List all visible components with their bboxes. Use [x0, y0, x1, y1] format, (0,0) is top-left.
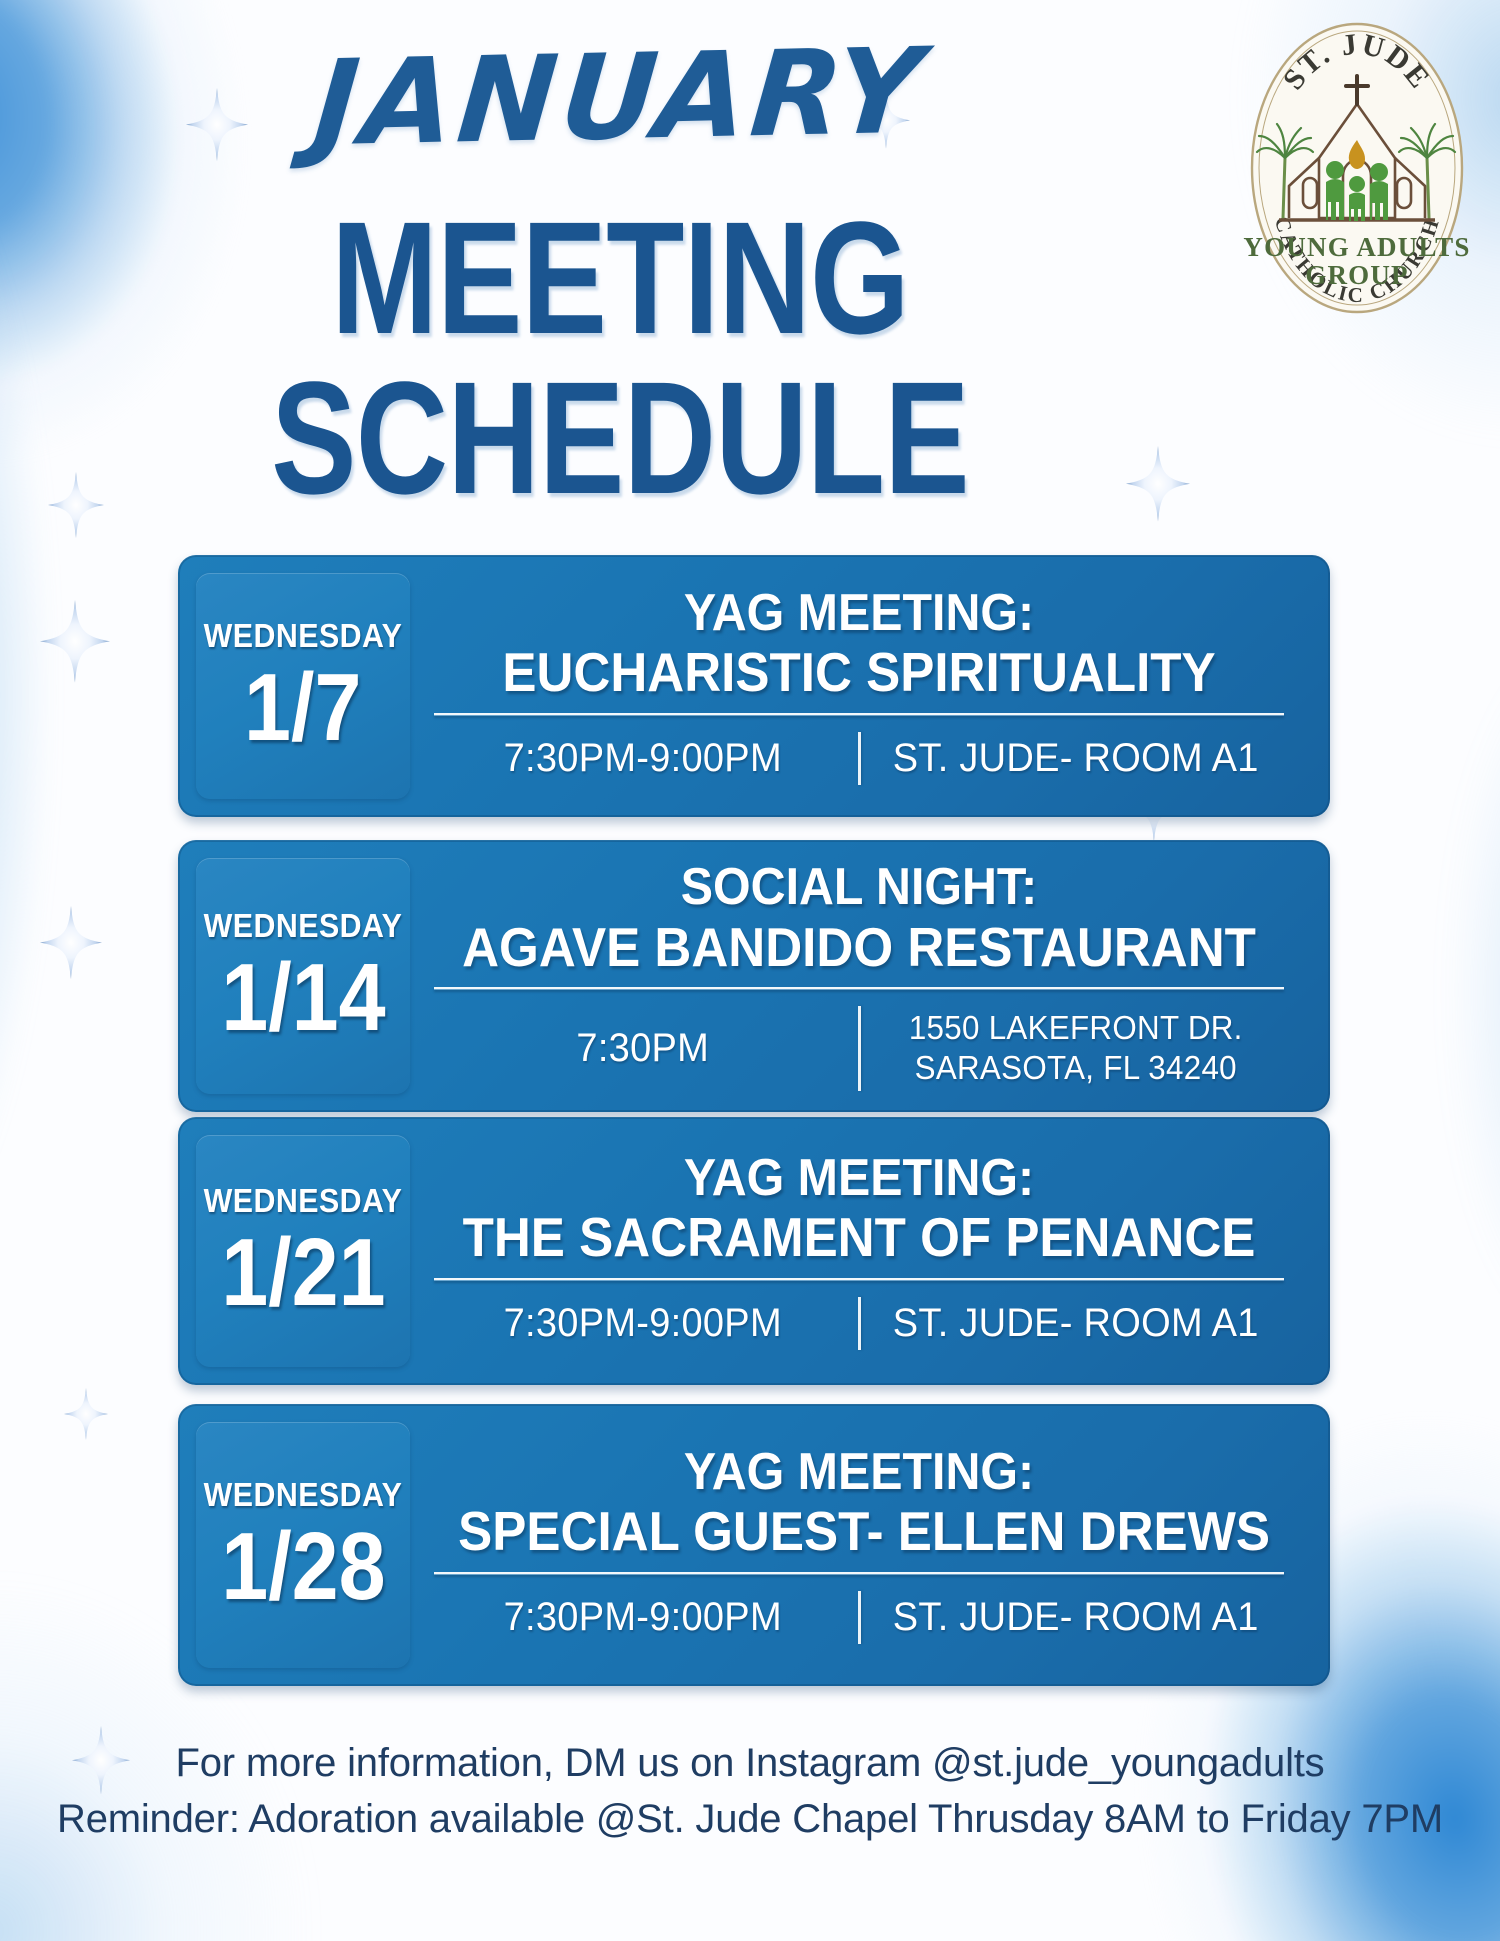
event-type: SOCIAL NIGHT: [458, 859, 1260, 916]
event-type: YAG MEETING: [458, 1150, 1260, 1207]
event-location: ST. JUDE- ROOM A1 [871, 730, 1279, 787]
event-location: ST. JUDE- ROOM A1 [871, 1295, 1279, 1352]
event-type: YAG MEETING: [458, 585, 1260, 642]
sparkle-icon [64, 1388, 108, 1440]
divider-rule [434, 987, 1284, 990]
vertical-divider [858, 1297, 861, 1350]
event-meta: 7:30PM-9:00PMST. JUDE- ROOM A1 [428, 730, 1290, 787]
event-date-box: WEDNESDAY1/14 [196, 858, 410, 1094]
event-card[interactable]: WEDNESDAY1/7YAG MEETING:EUCHARISTIC SPIR… [178, 555, 1330, 817]
event-title: SPECIAL GUEST- ELLEN DREWS [458, 1501, 1260, 1562]
sparkle-icon [48, 472, 104, 538]
event-date-box: WEDNESDAY1/7 [196, 573, 410, 799]
footer-line-instagram: For more information, DM us on Instagram… [0, 1735, 1500, 1791]
event-type: YAG MEETING: [458, 1444, 1260, 1501]
sparkle-icon [40, 600, 110, 683]
sparkle-icon [1126, 446, 1190, 522]
sparkle-icon [40, 906, 102, 979]
event-card[interactable]: WEDNESDAY1/14SOCIAL NIGHT:AGAVE BANDIDO … [178, 840, 1330, 1112]
event-meta: 7:30PM1550 LAKEFRONT DR.SARASOTA, FL 342… [428, 1004, 1290, 1093]
divider-rule [434, 1572, 1284, 1575]
event-card[interactable]: WEDNESDAY1/21YAG MEETING:THE SACRAMENT O… [178, 1117, 1330, 1385]
event-date: 1/21 [221, 1226, 385, 1320]
event-details: YAG MEETING:EUCHARISTIC SPIRITUALITY7:30… [428, 555, 1290, 817]
event-date-box: WEDNESDAY1/28 [196, 1422, 410, 1668]
month-title: JANUARY [0, 25, 1246, 169]
event-time: 7:30PM-9:00PM [439, 1295, 847, 1352]
page-title: MEETING SCHEDULE [124, 198, 1116, 518]
event-date: 1/7 [244, 661, 361, 755]
event-card[interactable]: WEDNESDAY1/28YAG MEETING:SPECIAL GUEST- … [178, 1404, 1330, 1686]
event-title: AGAVE BANDIDO RESTAURANT [458, 917, 1260, 978]
footer-info: For more information, DM us on Instagram… [0, 1735, 1500, 1847]
event-weekday: WEDNESDAY [204, 1182, 403, 1220]
vertical-divider [858, 1591, 861, 1644]
event-title: EUCHARISTIC SPIRITUALITY [458, 642, 1260, 703]
event-meta: 7:30PM-9:00PMST. JUDE- ROOM A1 [428, 1295, 1290, 1352]
divider-rule [434, 713, 1284, 716]
divider-rule [434, 1278, 1284, 1281]
poster-canvas: JANUARY MEETING SCHEDULE ST. JUDE CATHOL… [0, 0, 1500, 1941]
organization-logo: ST. JUDE CATHOLIC CHURCH [1243, 18, 1471, 318]
event-date-box: WEDNESDAY1/21 [196, 1135, 410, 1367]
event-weekday: WEDNESDAY [204, 907, 403, 945]
event-time: 7:30PM-9:00PM [439, 1589, 847, 1646]
event-time: 7:30PM [439, 1004, 847, 1093]
event-details: YAG MEETING:THE SACRAMENT OF PENANCE7:30… [428, 1117, 1290, 1385]
event-details: SOCIAL NIGHT:AGAVE BANDIDO RESTAURANT7:3… [428, 840, 1290, 1112]
event-details: YAG MEETING:SPECIAL GUEST- ELLEN DREWS7:… [428, 1404, 1290, 1686]
event-location: 1550 LAKEFRONT DR.SARASOTA, FL 34240 [871, 1004, 1279, 1093]
logo-line-1: YOUNG ADULTS [1243, 232, 1470, 262]
vertical-divider [858, 1006, 861, 1091]
event-weekday: WEDNESDAY [204, 1476, 403, 1514]
event-meta: 7:30PM-9:00PMST. JUDE- ROOM A1 [428, 1589, 1290, 1646]
event-location: ST. JUDE- ROOM A1 [871, 1589, 1279, 1646]
event-time: 7:30PM-9:00PM [439, 730, 847, 787]
event-title: THE SACRAMENT OF PENANCE [458, 1207, 1260, 1268]
vertical-divider [858, 732, 861, 785]
logo-line-2: GROUP [1305, 260, 1409, 290]
event-date: 1/28 [221, 1520, 385, 1614]
event-date: 1/14 [221, 951, 385, 1045]
event-weekday: WEDNESDAY [204, 617, 403, 655]
footer-line-adoration: Reminder: Adoration available @St. Jude … [0, 1791, 1500, 1847]
